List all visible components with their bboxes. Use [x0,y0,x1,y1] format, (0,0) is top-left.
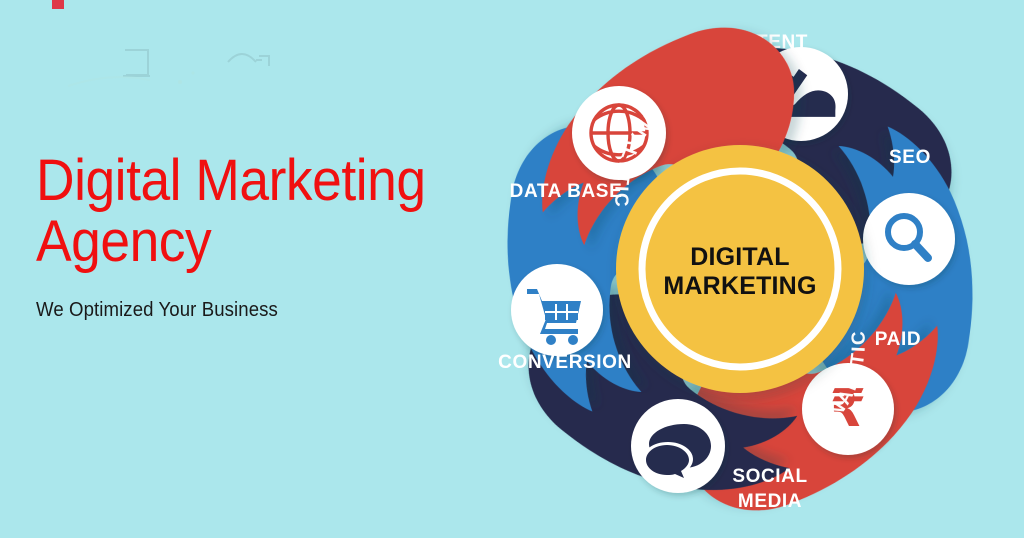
tagline: We Optimized Your Business [36,299,436,322]
watermark-logo [60,20,310,100]
petal-seo-badge[interactable] [863,193,955,285]
center-title-line1: DIGITAL [690,243,790,271]
petal-conversion-label: CONVERSION [498,352,632,373]
petal-social-media-label-line1: SOCIAL [732,466,807,487]
page-title: Digital Marketing Agency [36,150,432,273]
watermark-accent-dot [52,0,64,9]
petal-seo-label: SEO [889,147,931,168]
brand-copy-block: Digital Marketing Agency We Optimized Yo… [36,150,466,322]
center-title-line2: MARKETING [663,272,816,300]
digital-marketing-wheel: CONTENT SEO [462,0,1018,538]
banner-canvas: Digital Marketing Agency We Optimized Yo… [0,0,1024,538]
petal-social-media-label-line2: MEDIA [738,491,802,512]
petal-database-label: DATA BASE [510,181,623,202]
petal-paid-label: PAID [875,329,921,350]
